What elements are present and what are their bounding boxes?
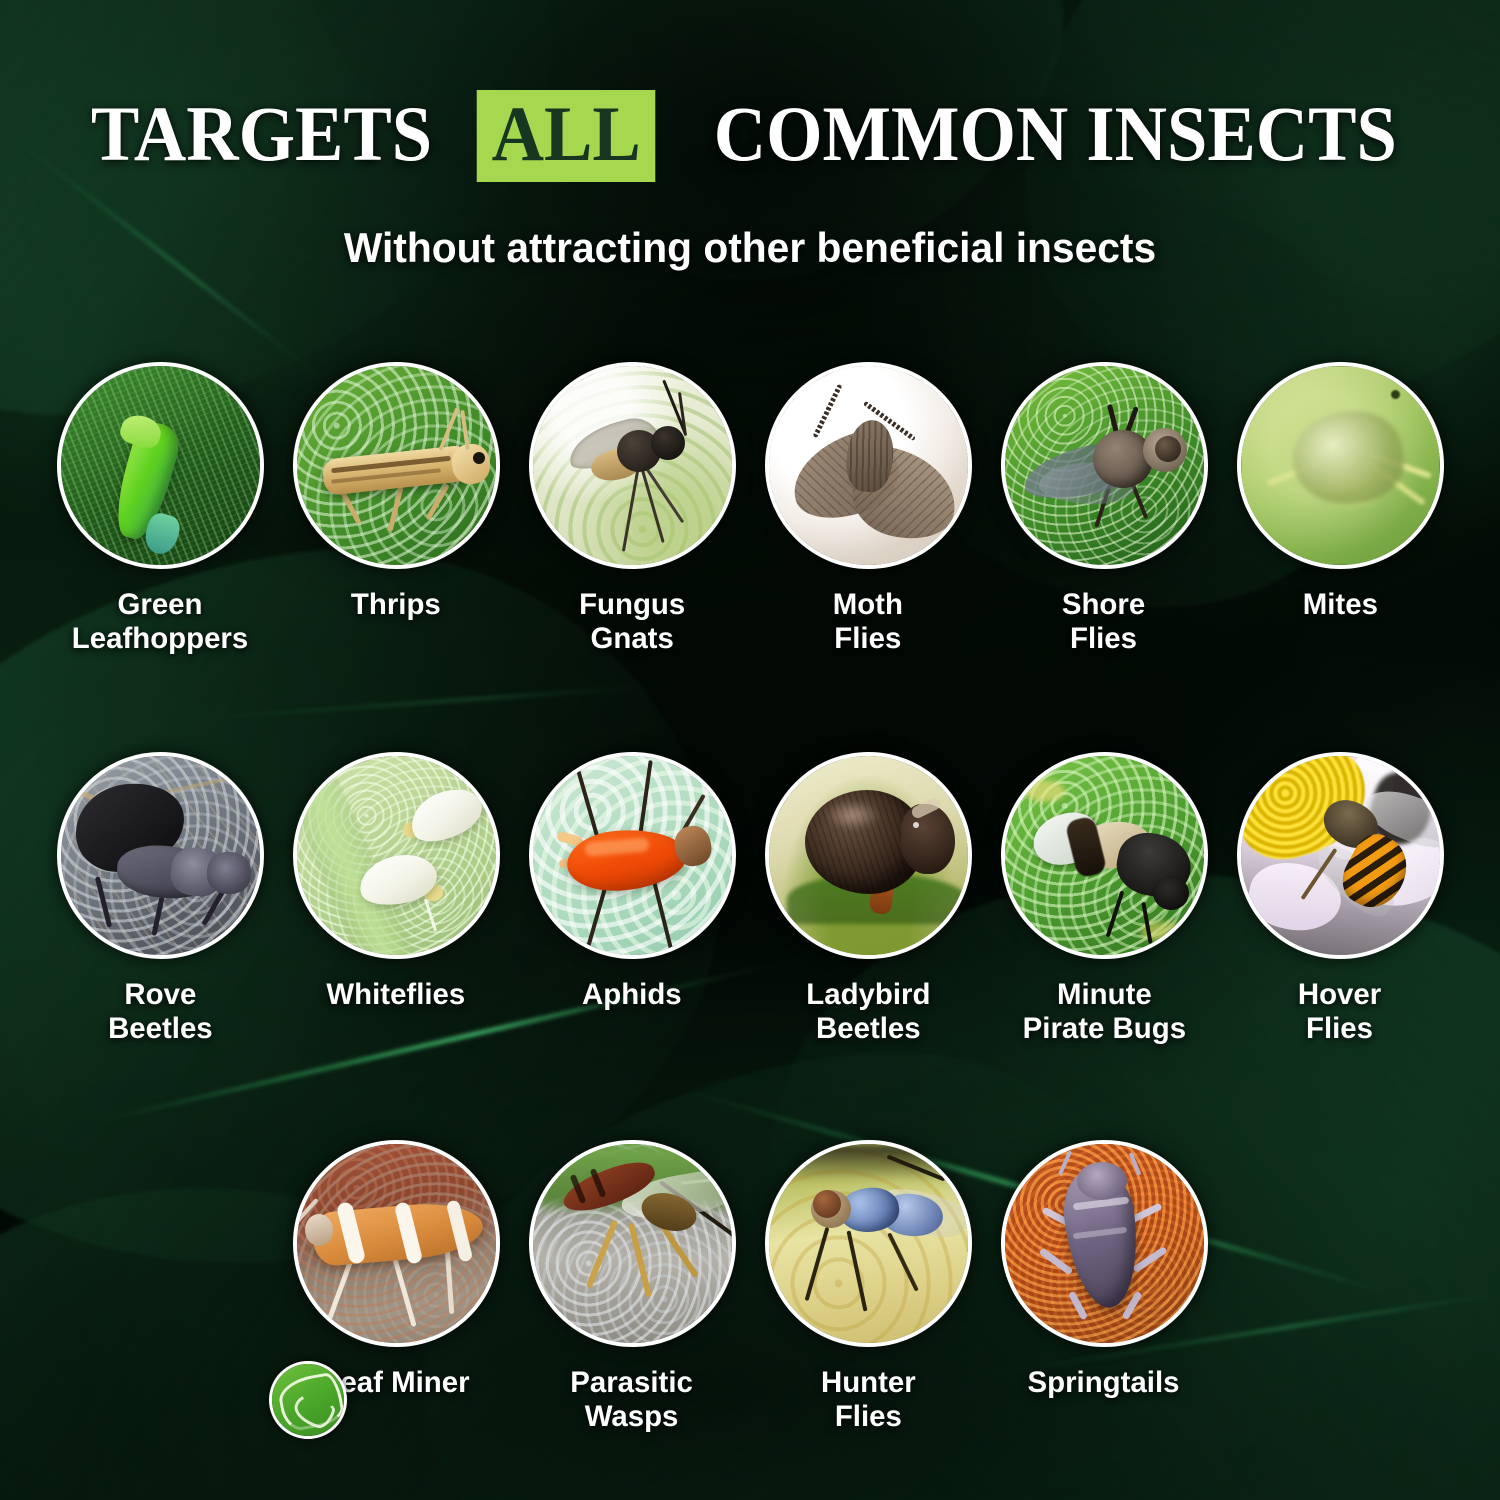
insect-card-moth-flies[interactable]: Moth Flies	[765, 362, 972, 655]
fungus-gnat-photo	[529, 362, 736, 569]
rove-beetle-photo	[57, 752, 264, 959]
insect-target-poster: TARGETS ALL COMMON INSECTS Without attra…	[0, 0, 1500, 1500]
insect-card-parasitic-wasps[interactable]: Parasitic Wasps	[529, 1140, 736, 1433]
mites-photo	[1237, 362, 1444, 569]
insect-row-2: Rove Beetles Whiteflies	[0, 752, 1500, 1045]
insect-card-fungus-gnats[interactable]: Fungus Gnats	[529, 362, 736, 655]
insect-label: Mites	[1302, 588, 1377, 622]
title-highlight-all: ALL	[477, 90, 656, 182]
thrips-photo	[293, 362, 500, 569]
insect-card-aphids[interactable]: Aphids	[529, 752, 736, 1045]
insect-card-ladybird-beetles[interactable]: Ladybird Beetles	[765, 752, 972, 1045]
minute-pirate-bug-photo	[1001, 752, 1208, 959]
insect-label: Whiteflies	[327, 978, 466, 1012]
hover-fly-photo	[1237, 752, 1444, 959]
insect-card-hover-flies[interactable]: Hover Flies	[1237, 752, 1444, 1045]
insect-label: Springtails	[1028, 1366, 1180, 1400]
insect-card-shore-flies[interactable]: Shore Flies	[1001, 362, 1208, 655]
insect-row-3: Leaf Miner Parasitic Wasps	[0, 1140, 1500, 1433]
leaf-mine-trail-photo	[269, 1361, 347, 1439]
insect-card-thrips[interactable]: Thrips	[293, 362, 500, 655]
page-title: TARGETS ALL COMMON INSECTS	[0, 90, 1500, 182]
hunter-fly-photo	[765, 1140, 972, 1347]
insect-label: Fungus Gnats	[579, 588, 685, 655]
insect-label: Hover Flies	[1298, 978, 1381, 1045]
insect-label: Shore Flies	[1062, 588, 1145, 655]
insect-label: Rove Beetles	[108, 978, 213, 1045]
insect-card-springtails[interactable]: Springtails	[1001, 1140, 1208, 1433]
insect-label: Green Leafhoppers	[72, 588, 248, 655]
insect-row-1: Green Leafhoppers Thrips	[0, 362, 1500, 655]
shore-fly-photo	[1001, 362, 1208, 569]
parasitic-wasp-photo	[529, 1140, 736, 1347]
insect-card-mites[interactable]: Mites	[1237, 362, 1444, 655]
insect-card-green-leafhoppers[interactable]: Green Leafhoppers	[57, 362, 264, 655]
title-part-one: TARGETS	[90, 95, 431, 173]
insect-card-hunter-flies[interactable]: Hunter Flies	[765, 1140, 972, 1433]
insect-card-rove-beetles[interactable]: Rove Beetles	[57, 752, 264, 1045]
aphid-photo	[529, 752, 736, 959]
leaf-miner-photo	[293, 1140, 500, 1347]
whitefly-photo	[293, 752, 500, 959]
insect-label: Minute Pirate Bugs	[1022, 978, 1185, 1045]
page-subtitle: Without attracting other beneficial inse…	[23, 224, 1478, 272]
ladybird-beetle-photo	[765, 752, 972, 959]
insect-label: Moth Flies	[833, 588, 903, 655]
springtail-photo	[1001, 1140, 1208, 1347]
insect-label: Parasitic Wasps	[571, 1366, 694, 1433]
title-part-two: COMMON INSECTS	[714, 95, 1397, 173]
green-leafhopper-photo	[57, 362, 264, 569]
insect-label: Hunter Flies	[821, 1366, 916, 1433]
insect-card-minute-pirate-bugs[interactable]: Minute Pirate Bugs	[1001, 752, 1208, 1045]
insect-card-whiteflies[interactable]: Whiteflies	[293, 752, 500, 1045]
insect-label: Ladybird Beetles	[806, 978, 930, 1045]
insect-card-leaf-miner[interactable]: Leaf Miner	[293, 1140, 500, 1433]
insect-label: Aphids	[582, 978, 682, 1012]
moth-fly-photo	[765, 362, 972, 569]
insect-label: Thrips	[351, 588, 441, 622]
